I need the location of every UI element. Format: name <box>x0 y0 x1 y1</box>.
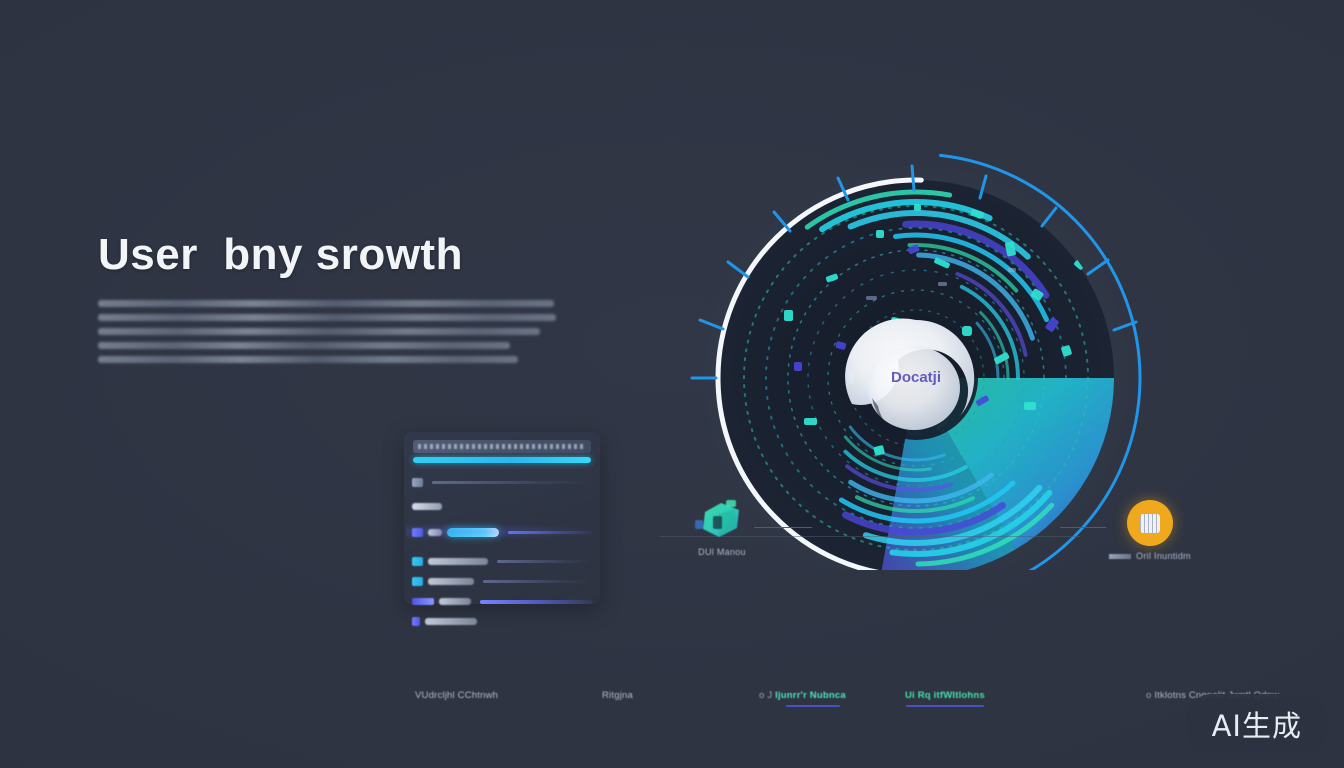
node-right[interactable]: Oril Inuntidm <box>1104 500 1196 561</box>
document-icon <box>412 478 423 487</box>
hero-text-block: User bny srowth <box>98 232 568 370</box>
list-item[interactable] <box>412 574 592 589</box>
list-item[interactable] <box>412 614 592 629</box>
legend-underline <box>786 705 840 707</box>
body-text-line <box>98 314 556 321</box>
page-title: User bny srowth <box>98 232 568 278</box>
legend-item[interactable]: o J Ijunrr'r Nubnca <box>759 690 846 701</box>
connector-line-right <box>1060 527 1106 528</box>
list-item[interactable] <box>412 499 592 514</box>
chip-icon <box>412 598 434 605</box>
legend-row: VUdrcljhl CChtnwh Ritgjna o J Ijunrr'r N… <box>0 690 1344 712</box>
row-label <box>412 503 442 510</box>
row-rail <box>432 481 592 484</box>
row-label <box>425 618 477 625</box>
node-left[interactable]: DUl Manou <box>676 498 768 557</box>
list-item-active[interactable] <box>412 594 592 609</box>
orb-core-label: Docatji <box>891 369 941 386</box>
body-text-line <box>98 342 510 349</box>
slider-control[interactable] <box>447 528 499 537</box>
tag-icon <box>412 577 423 586</box>
badge-dash-icon <box>1109 554 1131 559</box>
spark-icon <box>412 617 420 626</box>
stats-card[interactable] <box>404 432 600 604</box>
legend-item[interactable]: VUdrcljhl CChtnwh <box>415 690 498 701</box>
canvas-root: User bny srowth <box>0 0 1344 768</box>
cube-icon <box>693 498 751 542</box>
row-rail <box>497 560 592 563</box>
list-item[interactable] <box>412 475 592 490</box>
node-left-label: DUl Manou <box>676 547 768 557</box>
row-label <box>428 578 474 585</box>
chart-icon <box>412 557 423 566</box>
row-rail <box>480 600 592 604</box>
legend-item[interactable]: Ritgjna <box>602 690 633 701</box>
body-text-line <box>98 300 554 307</box>
body-text-line <box>98 356 518 363</box>
slider-row[interactable] <box>412 525 592 540</box>
row-label <box>439 598 471 605</box>
badge-inner-glyph <box>1140 514 1160 533</box>
legend-item[interactable]: Ui Rq itfWItlohns <box>905 690 985 701</box>
row-rail <box>483 580 592 583</box>
node-right-label: Oril Inuntidm <box>1136 551 1191 561</box>
gear-icon <box>412 528 423 537</box>
ai-generated-watermark: AI生成 <box>1186 694 1328 754</box>
legend-underline <box>906 705 984 707</box>
badge-icon <box>1127 500 1173 546</box>
row-label <box>428 558 488 565</box>
hero-body-paragraph <box>98 300 568 363</box>
card-header-bar <box>413 440 591 453</box>
progress-bar <box>413 457 591 463</box>
list-item[interactable] <box>412 554 592 569</box>
row-rail <box>508 531 592 534</box>
body-text-line <box>98 328 540 335</box>
row-label <box>428 529 442 536</box>
